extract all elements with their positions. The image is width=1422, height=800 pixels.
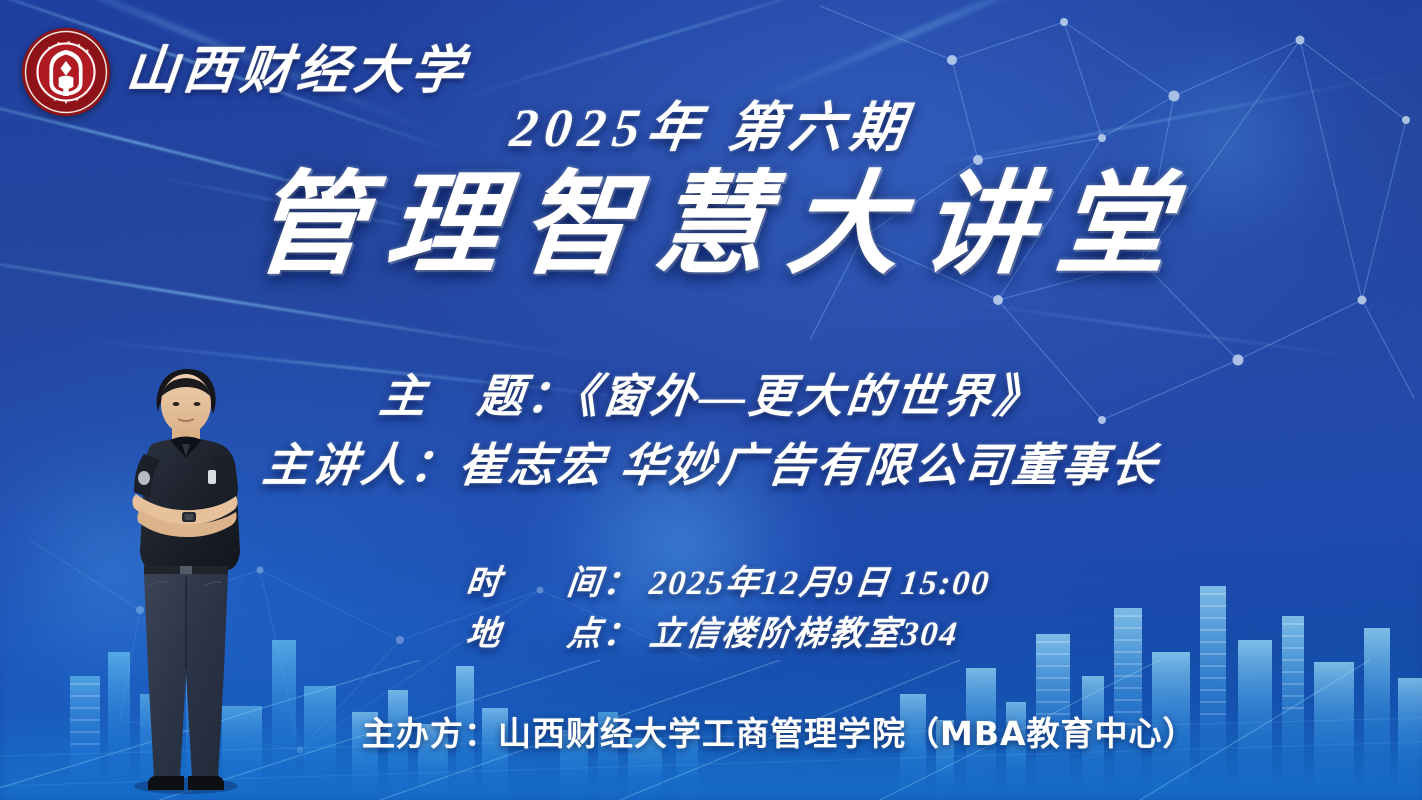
logistics-block: 时 间： 2025年12月9日 15:00 地 点： 立信楼阶梯教室304 xyxy=(0,558,1422,660)
organizer-line: 主办方：山西财经大学工商管理学院（MBA教育中心） xyxy=(0,713,1422,756)
page-title: 管理智慧大讲堂 xyxy=(0,169,1422,283)
place-row: 地 点： 立信楼阶梯教室304 xyxy=(463,609,1422,660)
place-value: 立信楼阶梯教室304 xyxy=(648,616,961,653)
poster-canvas: 山西财经大学 2025年 第六期 管理智慧大讲堂 主 题：《窗外—更大的世界》 … xyxy=(0,0,1422,800)
time-value: 2025年12月9日 15:00 xyxy=(648,565,993,602)
headline-block: 2025年 第六期 管理智慧大讲堂 xyxy=(0,100,1422,283)
topic-line: 主 题：《窗外—更大的世界》 xyxy=(0,368,1422,427)
place-label-colon: 点： xyxy=(565,616,641,653)
time-label: 时 xyxy=(464,565,504,602)
issue-label: 2025年 第六期 xyxy=(0,100,1422,157)
details-block: 主 题：《窗外—更大的世界》 主讲人：崔志宏 华妙广告有限公司董事长 xyxy=(0,368,1422,496)
time-label-colon: 间： xyxy=(565,565,641,602)
time-row: 时 间： 2025年12月9日 15:00 xyxy=(463,558,1422,609)
university-name: 山西财经大学 xyxy=(123,46,470,98)
speaker-line: 主讲人：崔志宏 华妙广告有限公司董事长 xyxy=(0,437,1422,496)
place-label: 地 xyxy=(464,616,504,653)
